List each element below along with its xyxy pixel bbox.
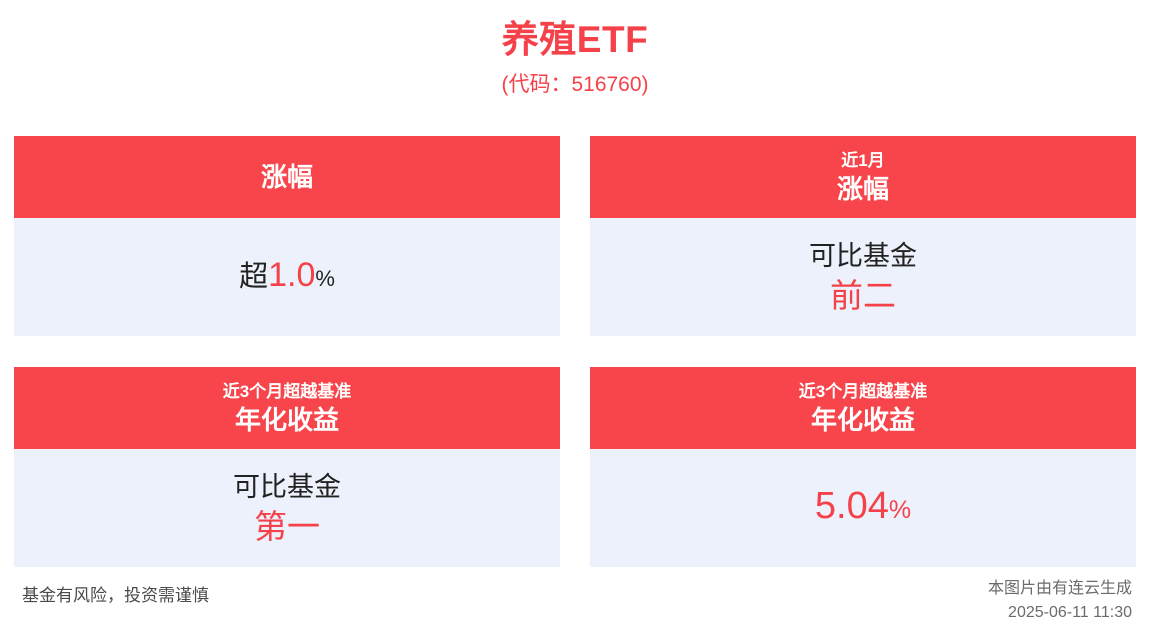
metric-card-grid: 涨幅 超1.0% 近1月 涨幅 可比基金 前二 近3个月超越基准 年化收 [14, 136, 1136, 567]
card-value-rank: 前二 [830, 275, 896, 317]
value-unit: % [315, 266, 335, 291]
metric-card-3month-excess-value: 近3个月超越基准 年化收益 5.04% [590, 367, 1136, 567]
value-number: 1.0 [268, 256, 315, 294]
value-number: 5.04 [815, 485, 889, 527]
card-body: 可比基金 第一 [14, 449, 560, 567]
card-header: 近3个月超越基准 年化收益 [14, 367, 560, 449]
card-value-label: 可比基金 [809, 237, 917, 275]
card-header-subtitle: 近1月 [841, 149, 884, 173]
card-header-title: 涨幅 [261, 161, 313, 193]
header: 养殖ETF (代码：516760) [0, 0, 1150, 102]
card-header-title: 年化收益 [235, 404, 339, 436]
value-unit: % [889, 496, 911, 524]
metric-card-3month-excess-rank: 近3个月超越基准 年化收益 可比基金 第一 [14, 367, 560, 567]
card-header-subtitle: 近3个月超越基准 [223, 380, 351, 404]
card-header: 近1月 涨幅 [590, 136, 1136, 218]
metric-card-1month-gain: 近1月 涨幅 可比基金 前二 [590, 136, 1136, 336]
card-header: 近3个月超越基准 年化收益 [590, 367, 1136, 449]
card-value-rank: 第一 [254, 506, 320, 548]
generated-timestamp: 2025-06-11 11:30 [988, 601, 1132, 625]
card-header-title: 年化收益 [811, 404, 915, 436]
card-header-title: 涨幅 [837, 173, 889, 205]
card-body: 可比基金 前二 [590, 218, 1136, 336]
infographic-page: 养殖ETF (代码：516760) 涨幅 超1.0% 近1月 涨幅 可比基金 前… [0, 0, 1150, 632]
card-header: 涨幅 [14, 136, 560, 218]
footer: 基金有风险，投资需谨慎 本图片由有连云生成 2025-06-11 11:30 [0, 572, 1150, 632]
card-value-row: 超1.0% [239, 256, 335, 298]
card-header-subtitle: 近3个月超越基准 [799, 380, 927, 404]
card-body: 超1.0% [14, 218, 560, 336]
generator-credit: 本图片由有连云生成 [988, 577, 1132, 601]
card-body: 5.04% [590, 449, 1136, 567]
card-value-row: 5.04% [815, 484, 911, 532]
footer-attribution: 本图片由有连云生成 2025-06-11 11:30 [988, 577, 1132, 625]
fund-code: (代码：516760) [0, 68, 1150, 102]
page-title: 养殖ETF [0, 18, 1150, 62]
card-value-label: 可比基金 [233, 468, 341, 506]
risk-disclaimer: 基金有风险，投资需谨慎 [22, 584, 209, 608]
value-prefix: 超 [239, 261, 268, 293]
metric-card-gain: 涨幅 超1.0% [14, 136, 560, 336]
